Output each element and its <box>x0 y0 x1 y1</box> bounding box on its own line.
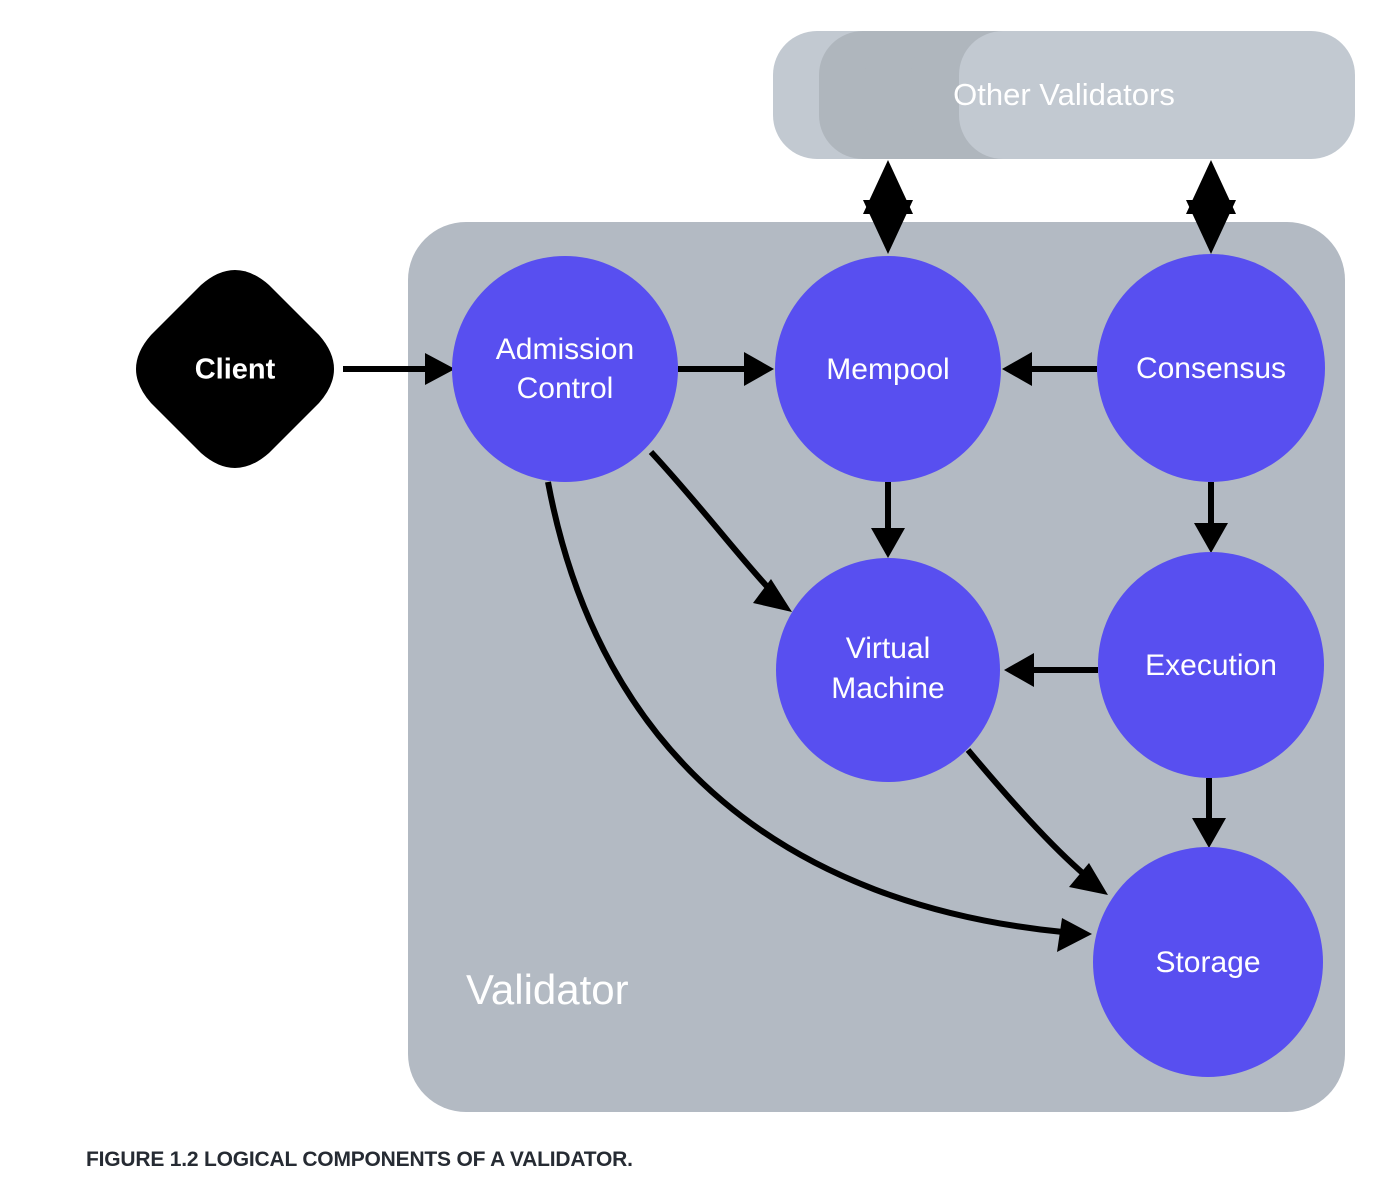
storage-circle <box>1093 847 1323 1077</box>
admission-control-circle <box>452 256 678 482</box>
mempool-circle <box>775 256 1001 482</box>
client-node[interactable]: Client <box>136 270 334 468</box>
consensus-circle <box>1097 254 1325 482</box>
other-validators-stack[interactable]: Other Validators <box>773 31 1355 159</box>
other-validators-layer-1 <box>959 31 1355 159</box>
figure-caption: FIGURE 1.2 LOGICAL COMPONENTS OF A VALID… <box>86 1148 633 1172</box>
validator-architecture-diagram: Other Validators Validator <box>0 0 1378 1194</box>
node-mempool[interactable]: Mempool <box>775 256 1001 482</box>
node-admission-control[interactable]: Admission Control <box>452 256 678 482</box>
client-diamond-shape <box>136 270 334 468</box>
virtual-machine-circle <box>776 558 1000 782</box>
node-consensus[interactable]: Consensus <box>1097 254 1325 482</box>
execution-circle <box>1098 552 1324 778</box>
node-virtual-machine[interactable]: Virtual Machine <box>776 558 1000 782</box>
node-execution[interactable]: Execution <box>1098 552 1324 778</box>
node-storage[interactable]: Storage <box>1093 847 1323 1077</box>
figure-canvas: Other Validators Validator <box>0 0 1378 1194</box>
